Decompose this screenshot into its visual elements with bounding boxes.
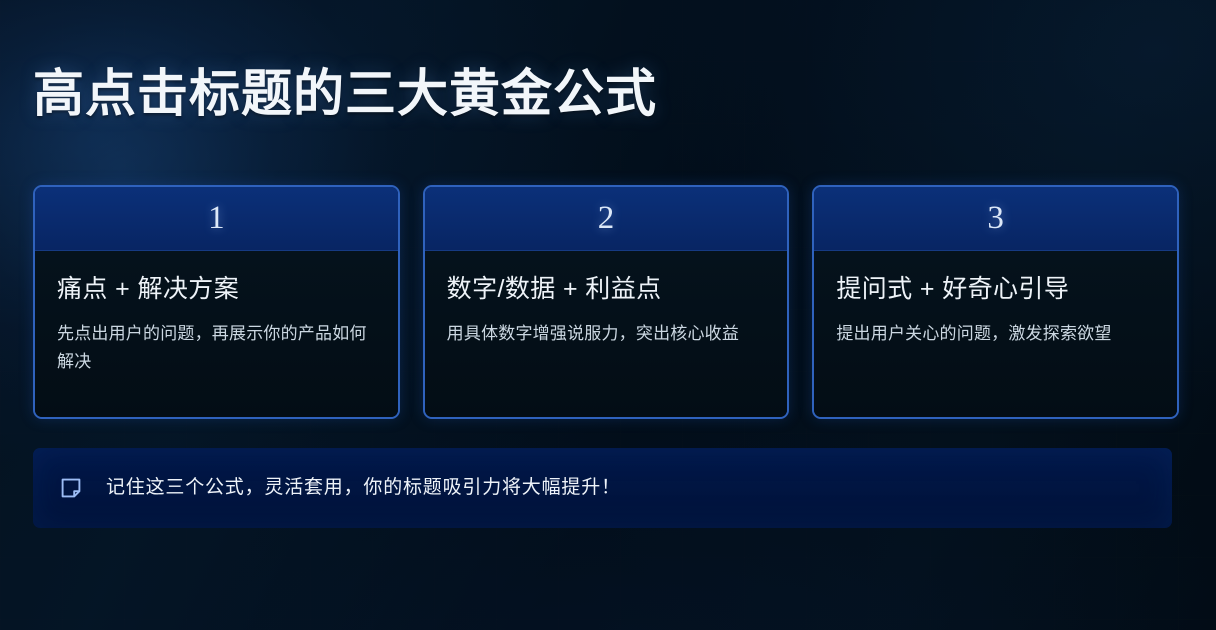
page-title: 高点击标题的三大黄金公式 — [33, 63, 657, 125]
card-header-3: 3 — [814, 187, 1177, 251]
card-title-2: 数字/数据 + 利益点 — [447, 274, 766, 304]
formula-card-1[interactable]: 1 痛点 + 解决方案 先点出用户的问题，再展示你的产品如何解决 — [33, 185, 400, 419]
card-body-3: 提问式 + 好奇心引导 提出用户关心的问题，激发探索欲望 — [814, 251, 1177, 417]
sticky-note-icon — [59, 476, 83, 500]
card-body-2: 数字/数据 + 利益点 用具体数字增强说服力，突出核心收益 — [425, 251, 788, 417]
card-description-3: 提出用户关心的问题，激发探索欲望 — [836, 320, 1155, 348]
card-title-3: 提问式 + 好奇心引导 — [836, 274, 1155, 304]
card-body-1: 痛点 + 解决方案 先点出用户的问题，再展示你的产品如何解决 — [35, 251, 398, 417]
card-description-1: 先点出用户的问题，再展示你的产品如何解决 — [57, 320, 376, 375]
formula-card-3[interactable]: 3 提问式 + 好奇心引导 提出用户关心的问题，激发探索欲望 — [812, 185, 1179, 419]
footer-tip-banner: 记住这三个公式，灵活套用，你的标题吸引力将大幅提升！ — [33, 448, 1172, 528]
card-number-2: 2 — [598, 202, 615, 235]
formula-card-2[interactable]: 2 数字/数据 + 利益点 用具体数字增强说服力，突出核心收益 — [423, 185, 790, 419]
formula-cards-row: 1 痛点 + 解决方案 先点出用户的问题，再展示你的产品如何解决 2 数字/数据… — [33, 185, 1179, 419]
card-number-1: 1 — [208, 202, 225, 235]
card-header-1: 1 — [35, 187, 398, 251]
footer-tip-text: 记住这三个公式，灵活套用，你的标题吸引力将大幅提升！ — [106, 476, 621, 501]
card-title-1: 痛点 + 解决方案 — [57, 274, 376, 304]
card-description-2: 用具体数字增强说服力，突出核心收益 — [447, 320, 766, 348]
card-number-3: 3 — [987, 202, 1004, 235]
slide-canvas: 高点击标题的三大黄金公式 1 痛点 + 解决方案 先点出用户的问题，再展示你的产… — [0, 0, 1216, 630]
card-header-2: 2 — [425, 187, 788, 251]
